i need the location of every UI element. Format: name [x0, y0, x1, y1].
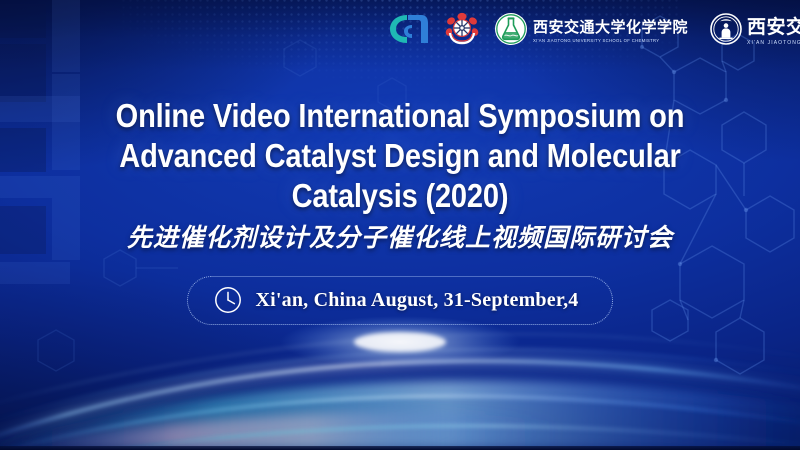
school-of-chemistry-en-text: XI'AN JIAOTONG UNIVERSITY SCHOOL OF CHEM…	[533, 38, 688, 43]
poster-title: Online Video International Symposium on …	[66, 96, 735, 216]
poster-subtitle-chinese: 先进催化剂设计及分子催化线上视频国际研讨会	[0, 222, 800, 254]
catalysis-c-mark-icon	[388, 12, 430, 46]
poster-content: Online Video International Symposium on …	[0, 96, 800, 325]
title-line-3: Catalysis (2020)	[292, 177, 509, 214]
xjtu-cn-text: 西安交通大学	[747, 12, 800, 39]
chinese-chemical-society-emblem-logo	[444, 9, 480, 49]
school-of-chemistry-logo: 西安交通大学化学学院 XI'AN JIAOTONG UNIVERSITY SCH…	[494, 9, 688, 49]
event-info-row: Xi'an, China August, 31-September,4	[0, 276, 800, 325]
chemistry-flask-roundel-icon	[494, 12, 528, 46]
xian-jiaotong-university-logo: 西安交通大学 XI'AN JIAOTONG UNIVERSITY	[710, 9, 800, 49]
event-info-pill: Xi'an, China August, 31-September,4	[187, 276, 614, 325]
xjtu-wordmark: 西安交通大学 XI'AN JIAOTONG UNIVERSITY	[747, 12, 800, 46]
xjtu-en-text: XI'AN JIAOTONG UNIVERSITY	[747, 40, 800, 46]
floral-wheel-emblem-icon	[444, 12, 480, 46]
university-roundel-icon	[710, 13, 742, 45]
sponsor-logo-bar: 西安交通大学化学学院 XI'AN JIAOTONG UNIVERSITY SCH…	[388, 8, 800, 50]
title-line-2: Advanced Catalyst Design and Molecular	[119, 137, 680, 174]
event-location-and-dates: Xi'an, China August, 31-September,4	[256, 289, 579, 312]
conference-poster: 西安交通大学化学学院 XI'AN JIAOTONG UNIVERSITY SCH…	[0, 0, 800, 450]
school-of-chemistry-wordmark: 西安交通大学化学学院 XI'AN JIAOTONG UNIVERSITY SCH…	[533, 16, 688, 43]
bottom-edge-line	[0, 446, 800, 450]
title-line-1: Online Video International Symposium on	[116, 97, 685, 134]
clock-icon	[214, 286, 242, 314]
catalysis-c-mark-logo	[388, 9, 430, 49]
school-of-chemistry-cn-text: 西安交通大学化学学院	[533, 16, 688, 37]
